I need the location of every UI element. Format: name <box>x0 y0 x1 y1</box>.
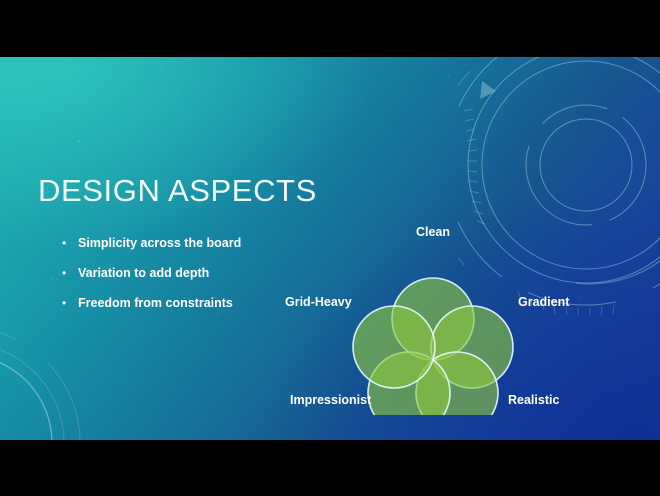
bullet-marker-icon: • <box>62 265 71 281</box>
presentation-slide: DESIGN ASPECTS • Simplicity across the b… <box>0 57 660 440</box>
list-item: • Variation to add depth <box>62 265 312 281</box>
list-item-label: Variation to add depth <box>78 265 209 281</box>
list-item: • Simplicity across the board <box>62 235 312 251</box>
video-player-viewport: DESIGN ASPECTS • Simplicity across the b… <box>0 0 660 496</box>
venn-label-realistic: Realistic <box>508 393 559 407</box>
letterbox-bar-top <box>0 0 660 57</box>
bullet-marker-icon: • <box>62 295 71 311</box>
bullet-marker-icon: • <box>62 235 71 251</box>
bullet-list: • Simplicity across the board • Variatio… <box>62 235 312 325</box>
venn-circle-grid-heavy <box>353 306 435 388</box>
venn-label-grid-heavy: Grid-Heavy <box>285 295 352 309</box>
venn-diagram: Clean Grid-Heavy Gradient Impressionist … <box>276 165 596 415</box>
venn-label-impressionist: Impressionist <box>290 393 371 407</box>
list-item-label: Freedom from constraints <box>78 295 233 311</box>
list-item: • Freedom from constraints <box>62 295 312 311</box>
list-item-label: Simplicity across the board <box>78 235 241 251</box>
letterbox-bar-bottom <box>0 440 660 496</box>
venn-label-gradient: Gradient <box>518 295 569 309</box>
venn-diagram-circles <box>276 165 596 415</box>
venn-label-clean: Clean <box>416 225 450 239</box>
